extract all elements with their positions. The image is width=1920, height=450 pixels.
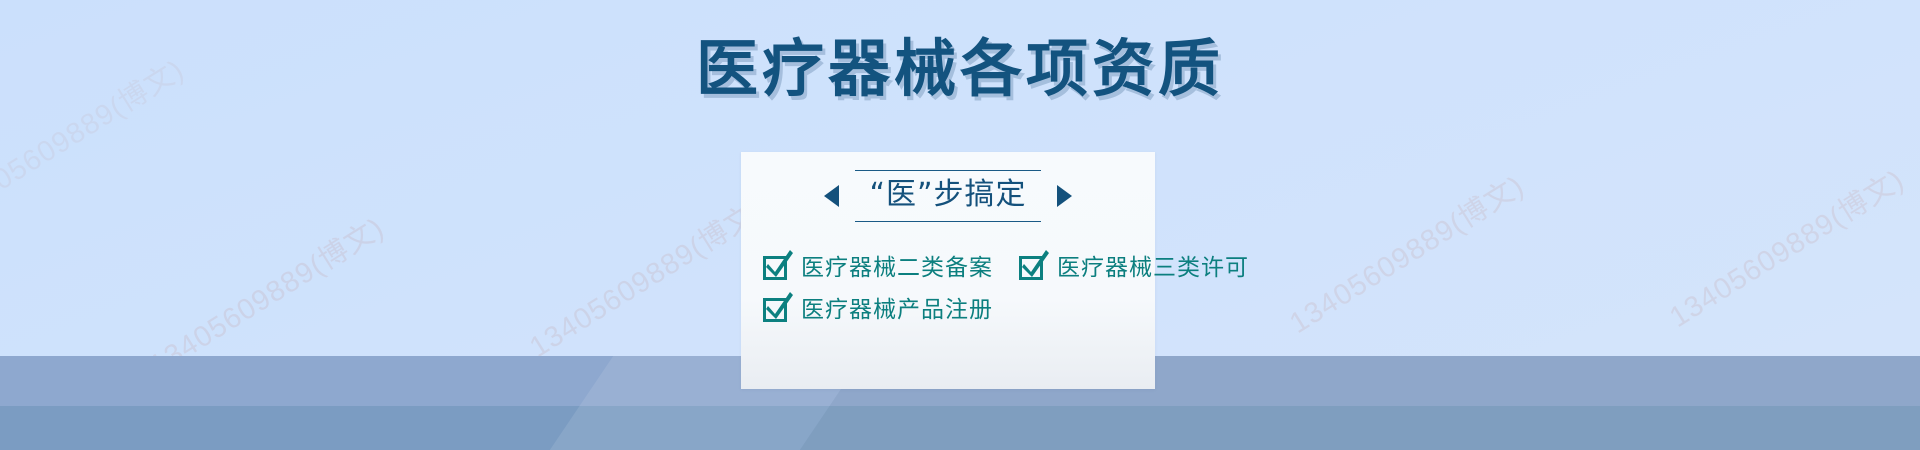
list-item-label: 医疗器械二类备案	[801, 257, 993, 280]
list-item[interactable]: 医疗器械三类许可	[1019, 256, 1249, 280]
right-triangle-icon	[1057, 185, 1072, 207]
card-heading-frame: “医”步搞定	[855, 170, 1040, 222]
left-triangle-icon	[824, 185, 839, 207]
checkbox-checked-icon	[763, 298, 787, 322]
list-row: 医疗器械产品注册	[763, 298, 1143, 322]
page-title: 医疗器械各项资质	[696, 36, 1224, 101]
list-item[interactable]: 医疗器械产品注册	[763, 298, 993, 322]
checkbox-checked-icon	[1019, 256, 1043, 280]
qualification-list: 医疗器械二类备案 医疗器械三类许可	[763, 256, 1143, 340]
promo-banner: 13405609889(博文) 13405609889(博文) 13405609…	[0, 0, 1920, 450]
qualification-card: “医”步搞定 医疗器械二类备案	[741, 152, 1155, 389]
list-item-label: 医疗器械三类许可	[1057, 257, 1249, 280]
checkbox-checked-icon	[763, 256, 787, 280]
list-item[interactable]: 医疗器械二类备案	[763, 256, 993, 280]
list-row: 医疗器械二类备案 医疗器械三类许可	[763, 256, 1143, 280]
banner-title-container: 医疗器械各项资质	[0, 36, 1920, 101]
list-item-label: 医疗器械产品注册	[801, 299, 993, 322]
card-heading-row: “医”步搞定	[741, 152, 1155, 222]
card-heading-text: “医”步搞定	[869, 177, 1026, 212]
